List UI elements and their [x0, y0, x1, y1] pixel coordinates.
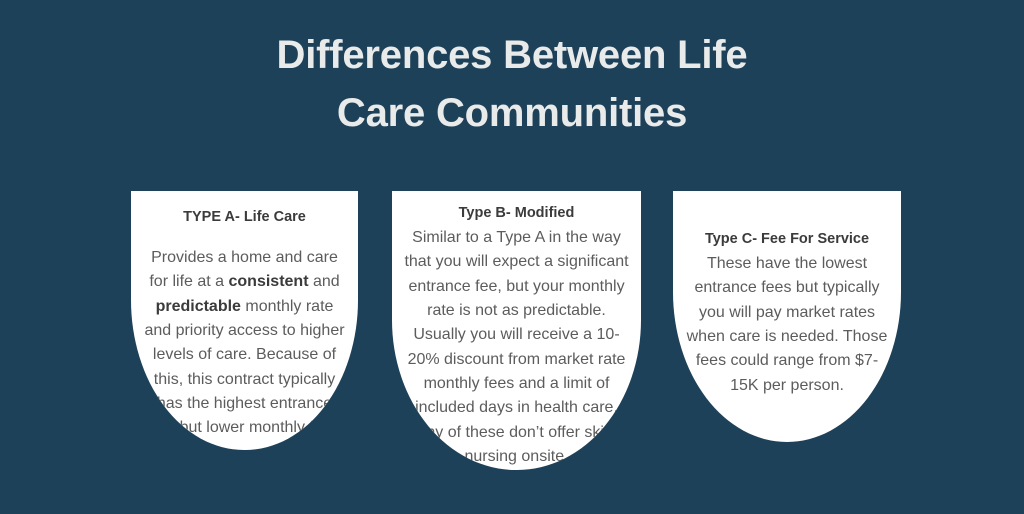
- card-type-b: Type B- Modified Similar to a Type A in …: [392, 191, 641, 470]
- infographic-canvas: Differences Between Life Care Communitie…: [0, 0, 1024, 514]
- card-group: TYPE A- Life Care Provides a home and ca…: [0, 0, 1024, 514]
- card-type-b-body: Similar to a Type A in the way that you …: [404, 226, 629, 469]
- card-type-b-heading: Type B- Modified: [404, 203, 629, 224]
- card-type-a-body: Provides a home and care for life at a c…: [143, 246, 346, 441]
- card-type-c-body: These have the lowest entrance fees but …: [685, 252, 889, 398]
- card-type-c-content: Type C- Fee For Service These have the l…: [673, 229, 901, 398]
- card-type-a: TYPE A- Life Care Provides a home and ca…: [131, 191, 358, 450]
- card-type-b-content: Type B- Modified Similar to a Type A in …: [392, 203, 641, 469]
- card-type-a-content: TYPE A- Life Care Provides a home and ca…: [131, 207, 358, 441]
- card-type-a-heading: TYPE A- Life Care: [143, 207, 346, 228]
- card-type-c: Type C- Fee For Service These have the l…: [673, 191, 901, 442]
- card-type-c-heading: Type C- Fee For Service: [685, 229, 889, 250]
